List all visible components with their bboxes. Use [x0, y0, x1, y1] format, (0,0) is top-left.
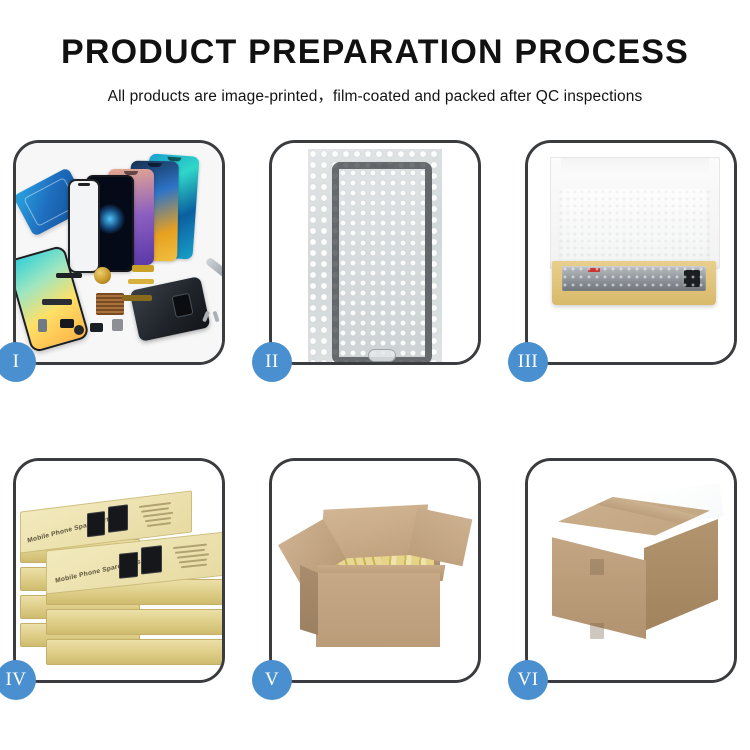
- small-component: [90, 323, 103, 332]
- box-spec-line: [181, 564, 207, 568]
- notch-icon: [148, 163, 162, 167]
- carton-side-face: [300, 565, 318, 635]
- sealed-carton: [552, 497, 718, 649]
- step-badge-4: IV: [0, 660, 36, 700]
- product-marking: [588, 268, 600, 272]
- step-badge-5: V: [252, 660, 292, 700]
- product-connector: [684, 270, 700, 287]
- flex-cable: [122, 295, 152, 301]
- phone-white-glass: [68, 179, 100, 273]
- box-screen-thumbnail: [87, 511, 105, 537]
- wrapped-screen-frame: [332, 162, 432, 362]
- chip-grid-part: [96, 293, 124, 315]
- box-screen-thumbnail: [108, 504, 128, 532]
- box-spec-line: [179, 559, 207, 564]
- step-badge-6: VI: [508, 660, 548, 700]
- process-step-panel-6[interactable]: VI: [525, 458, 737, 683]
- step-3-image: [528, 143, 734, 362]
- foam-padding: [558, 189, 710, 267]
- component-bar: [60, 319, 74, 328]
- page-title: PRODUCT PREPARATION PROCESS: [0, 34, 750, 71]
- small-component: [74, 325, 84, 335]
- process-step-panel-3[interactable]: III: [525, 140, 737, 365]
- step-5-image: [272, 461, 478, 680]
- step-2-image: [272, 143, 478, 362]
- step-badge-1: I: [0, 342, 36, 382]
- packed-product: [562, 266, 706, 291]
- bubble-wrap-sheet: [308, 149, 442, 362]
- box-screen-thumbnail: [119, 552, 138, 579]
- step-4-image: Mobile Phone Spare Parts Mobile Phone Sp…: [16, 461, 222, 680]
- component-bar: [56, 273, 82, 278]
- page-subtitle: All products are image-printed，film-coat…: [0, 84, 750, 106]
- step-badge-3: III: [508, 342, 548, 382]
- component-bar: [42, 299, 72, 305]
- carton-handle-slot: [590, 623, 604, 639]
- process-step-panel-4[interactable]: Mobile Phone Spare Parts Mobile Phone Sp…: [13, 458, 225, 683]
- box-spec-line: [147, 522, 171, 527]
- carton-handle-slot: [590, 559, 604, 575]
- process-step-grid: I II III: [13, 140, 737, 683]
- small-component: [112, 319, 123, 331]
- process-step-panel-2[interactable]: II: [269, 140, 481, 365]
- phone-fan-group: [68, 155, 218, 270]
- kraft-box-tray: [552, 261, 716, 305]
- carton-front-face: [316, 573, 440, 647]
- box-spec-line: [145, 517, 171, 522]
- open-carton: [300, 507, 456, 647]
- carton-right-face: [644, 519, 718, 631]
- box-spec-line: [173, 544, 207, 549]
- small-component: [38, 319, 47, 332]
- phone-back-cover: [129, 276, 210, 342]
- step-1-image: [16, 143, 222, 362]
- earpiece-icon: [370, 164, 394, 168]
- box-spec-line: [177, 553, 209, 558]
- process-step-panel-1[interactable]: I: [13, 140, 225, 365]
- flex-cable: [132, 265, 154, 272]
- copper-coil-part: [94, 267, 111, 284]
- step-6-image: [528, 461, 734, 680]
- retail-box: [46, 609, 222, 635]
- home-button-icon: [368, 349, 396, 362]
- box-spec-line: [175, 549, 205, 554]
- page-header: PRODUCT PREPARATION PROCESS All products…: [0, 0, 750, 106]
- retail-box: [46, 639, 222, 665]
- box-spec-line: [141, 507, 169, 512]
- retail-box-stack: Mobile Phone Spare Parts Mobile Phone Sp…: [20, 483, 222, 673]
- box-screen-thumbnail: [141, 545, 162, 574]
- step-badge-2: II: [252, 342, 292, 382]
- flex-cable: [128, 279, 154, 284]
- screws-icon: [202, 311, 222, 325]
- screen-glass: [339, 169, 425, 357]
- process-step-panel-5[interactable]: V: [269, 458, 481, 683]
